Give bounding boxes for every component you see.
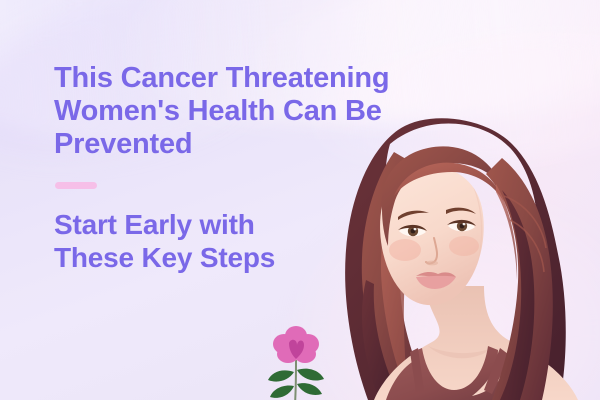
pink-flower-illustration (258, 326, 334, 400)
poster-copy: This Cancer Threatening Women's Health C… (54, 62, 454, 274)
page-subtitle: Start Early with These Key Steps (54, 208, 454, 274)
page-title: This Cancer Threatening Women's Health C… (54, 62, 454, 161)
flower-stem (295, 360, 296, 400)
poster-canvas: This Cancer Threatening Women's Health C… (0, 0, 600, 400)
pink-divider-rule (55, 182, 97, 189)
